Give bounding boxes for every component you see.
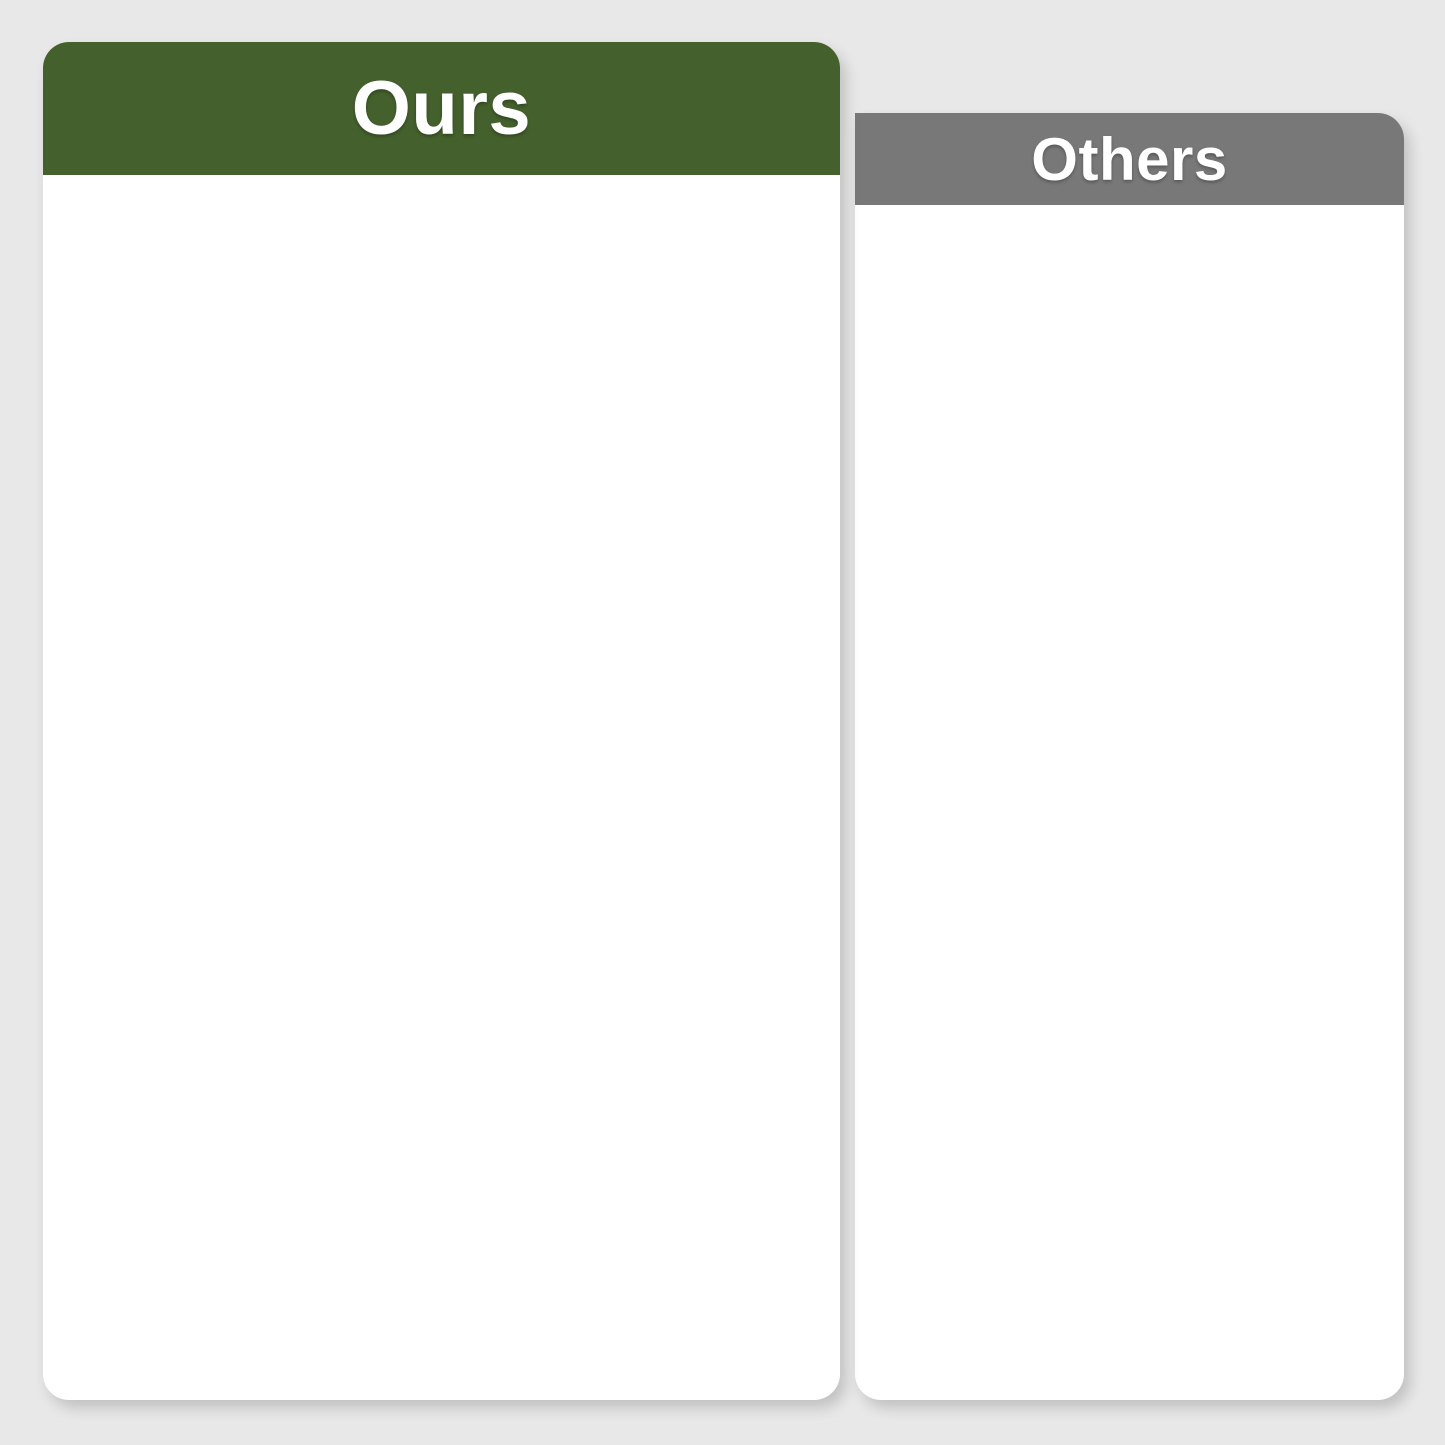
others-card: Others bbox=[855, 113, 1404, 1400]
comparison-infographic: Ours Selected Soft Cor bbox=[0, 0, 1445, 1445]
ours-card: Ours bbox=[43, 42, 840, 1400]
ours-header: Ours bbox=[43, 42, 840, 175]
others-header-title: Others bbox=[1031, 125, 1227, 194]
others-header: Others bbox=[855, 113, 1404, 205]
ours-header-title: Ours bbox=[352, 65, 531, 152]
